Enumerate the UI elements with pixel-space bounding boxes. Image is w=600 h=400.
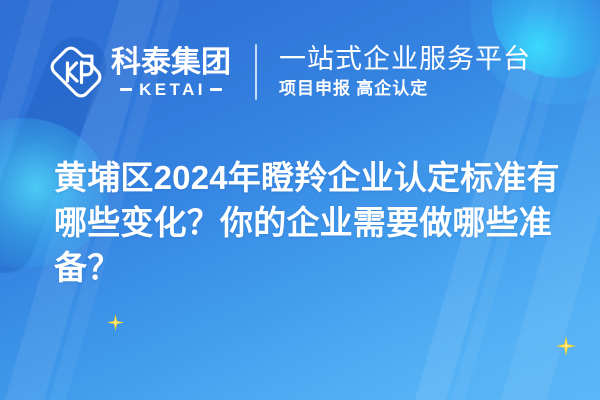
logo-name-en-row: KETAI [111,81,231,98]
vertical-divider-icon [255,44,257,100]
tagline-main: 一站式企业服务平台 [279,44,531,75]
banner-header: 科泰集团 KETAI 一站式企业服务平台 项目申报 高企认定 [50,38,531,106]
sparkle-star-icon [556,336,576,356]
kp-diamond-logo-icon [50,46,102,98]
logo-name-cn: 科泰集团 [111,47,231,79]
dash-left-icon [120,88,132,91]
promo-banner: 科泰集团 KETAI 一站式企业服务平台 项目申报 高企认定 黄埔区2024年瞪… [0,0,600,400]
sparkle-star-icon [107,314,124,331]
page-title: 黄埔区2024年瞪羚企业认定标准有哪些变化？你的企业需要做哪些准备？ [54,155,566,290]
logo-wordmark: 科泰集团 KETAI [111,47,231,98]
logo-name-en: KETAI [132,81,210,98]
dash-right-icon [210,88,222,91]
tagline-block: 一站式企业服务平台 项目申报 高企认定 [279,44,531,100]
tagline-sub: 项目申报 高企认定 [279,78,531,100]
